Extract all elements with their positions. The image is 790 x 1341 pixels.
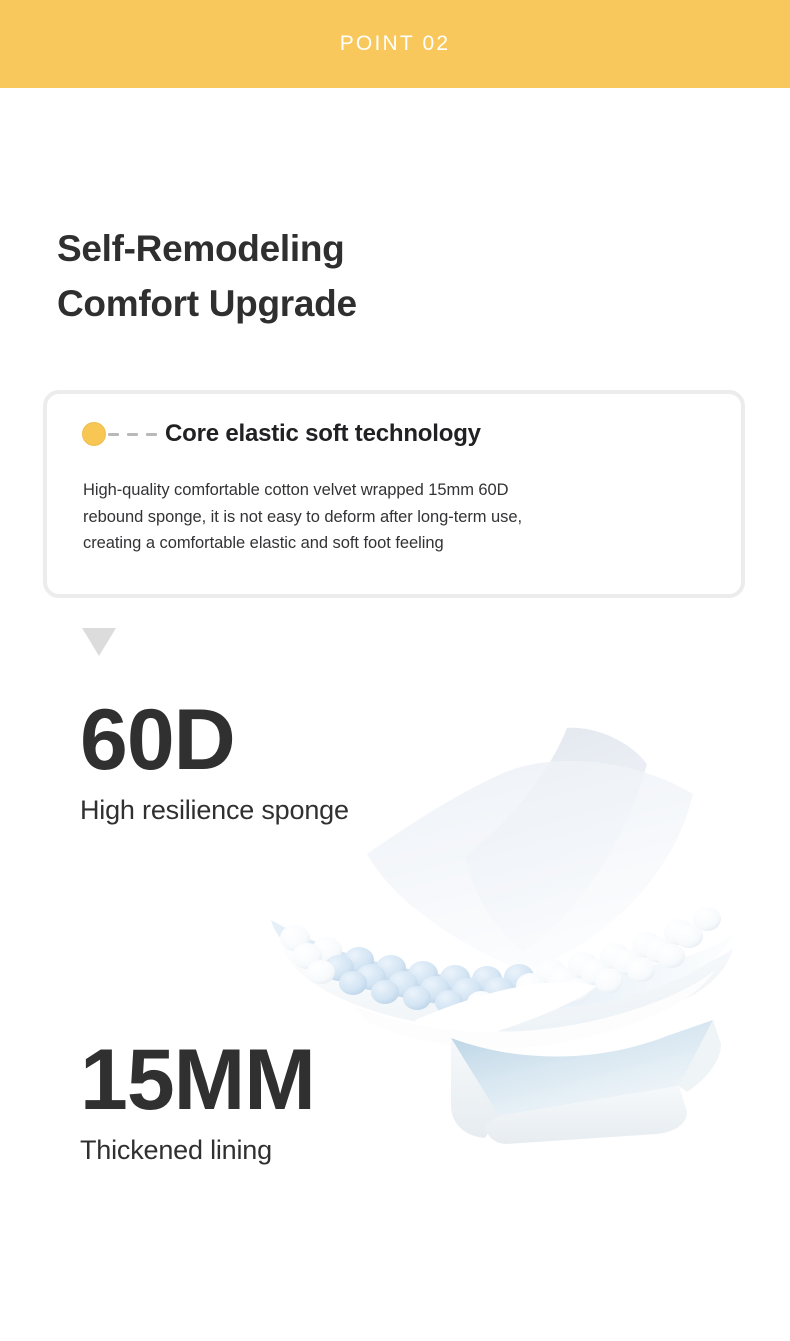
banner-label: POINT 02 bbox=[340, 33, 451, 56]
dashed-connector-icon bbox=[108, 433, 161, 436]
point-banner: POINT 02 bbox=[0, 0, 790, 88]
triangle-down-icon bbox=[82, 628, 116, 656]
feature-card-header: Core elastic soft technology bbox=[82, 422, 481, 446]
product-illustration bbox=[255, 720, 775, 1160]
feature-card: Core elastic soft technology High-qualit… bbox=[43, 390, 745, 598]
page-title-line-2: Comfort Upgrade bbox=[57, 277, 697, 332]
bullet-dot-icon bbox=[82, 422, 106, 446]
feature-card-body-line-1: High-quality comfortable cotton velvet w… bbox=[83, 477, 703, 504]
page-title: Self-Remodeling Comfort Upgrade bbox=[57, 222, 697, 332]
feature-card-body: High-quality comfortable cotton velvet w… bbox=[83, 477, 703, 557]
feature-card-title: Core elastic soft technology bbox=[165, 422, 481, 446]
feature-card-body-line-2: rebound sponge, it is not easy to deform… bbox=[83, 504, 703, 531]
layered-mat-cutaway-graphic bbox=[255, 720, 775, 1160]
page-title-line-1: Self-Remodeling bbox=[57, 222, 697, 277]
feature-card-body-line-3: creating a comfortable elastic and soft … bbox=[83, 530, 703, 557]
